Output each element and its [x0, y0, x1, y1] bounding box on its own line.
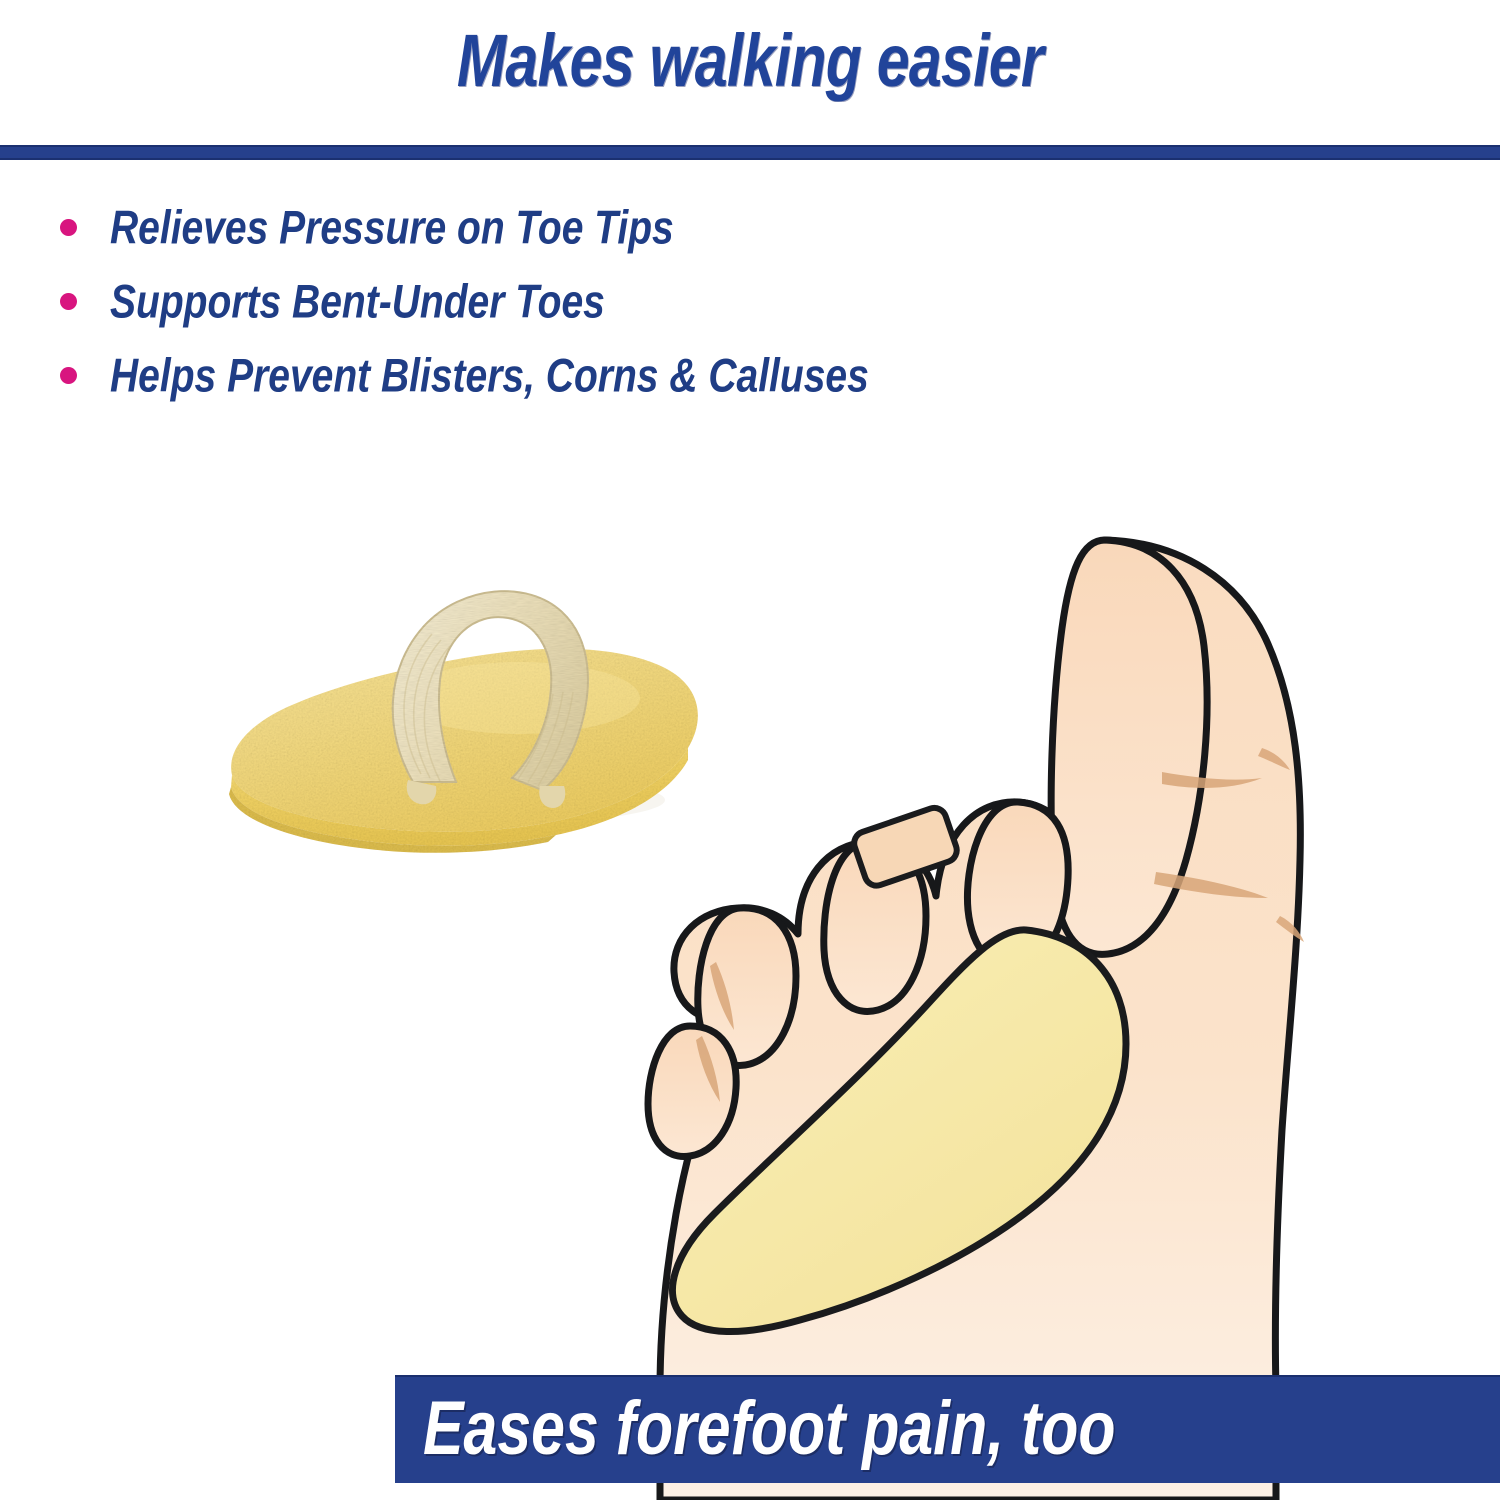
bullet-dot-icon	[60, 219, 77, 236]
benefits-list: Relieves Pressure on Toe Tips Supports B…	[0, 190, 1000, 412]
list-item: Relieves Pressure on Toe Tips	[0, 190, 1000, 264]
footer-banner: Eases forefoot pain, too	[395, 1375, 1500, 1483]
page-title: Makes walking easier	[150, 22, 1350, 100]
header-divider-rule	[0, 145, 1500, 160]
foot-sole-illustration	[648, 540, 1304, 1500]
footer-banner-text: Eases forefoot pain, too	[423, 1385, 1116, 1472]
bullet-dot-icon	[60, 367, 77, 384]
toe-crest-cushion-photo	[229, 591, 698, 853]
list-item: Helps Prevent Blisters, Corns & Calluses	[0, 338, 1000, 412]
product-infographic: Makes walking easier Relieves Pressure o…	[0, 0, 1500, 1500]
bullet-dot-icon	[60, 293, 77, 310]
list-item: Supports Bent-Under Toes	[0, 264, 1000, 338]
benefit-label: Supports Bent-Under Toes	[110, 274, 605, 329]
benefit-label: Helps Prevent Blisters, Corns & Calluses	[110, 348, 869, 403]
benefit-label: Relieves Pressure on Toe Tips	[110, 200, 674, 255]
toe-fifth	[648, 1026, 736, 1156]
product-illustration-area	[0, 430, 1500, 1500]
